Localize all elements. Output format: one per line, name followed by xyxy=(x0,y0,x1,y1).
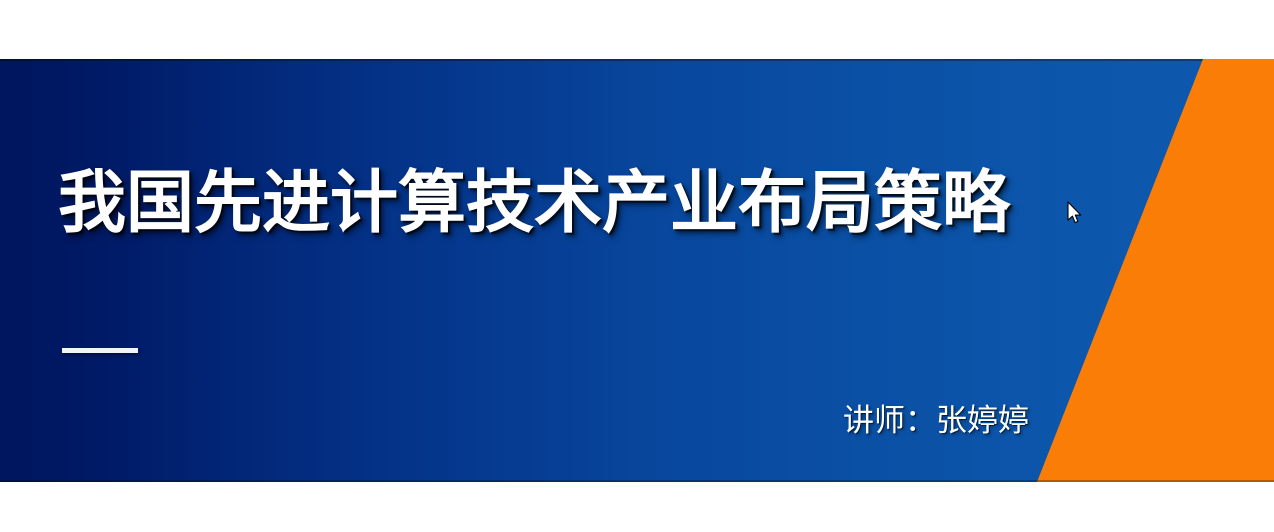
title-underline-rule xyxy=(62,348,138,353)
orange-accent-wedge xyxy=(0,59,1274,482)
banner-top-edge xyxy=(0,59,1274,61)
presenter-credit: 讲师：张婷婷 xyxy=(843,404,1029,438)
page-title: 我国先进计算技术产业布局策略 xyxy=(58,168,1010,239)
banner-bottom-edge xyxy=(0,480,1274,482)
presentation-slide: 我国先进计算技术产业布局策略 讲师：张婷婷 xyxy=(0,0,1274,532)
title-banner xyxy=(0,59,1274,482)
